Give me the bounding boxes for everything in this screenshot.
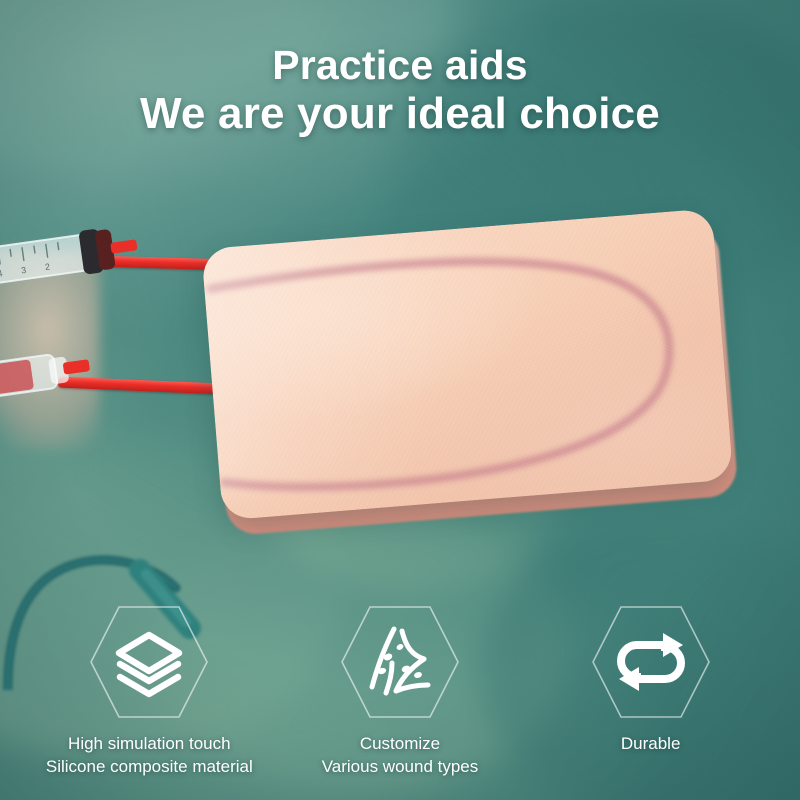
headline-line-2: We are your ideal choice [0,91,800,137]
feature-label-2: Customize Various wound types [322,733,479,778]
feature-item-high-simulation-touch: High simulation touch Silicone composite… [24,601,274,778]
hexagon-frame-1 [89,601,209,723]
pad-top-surface [201,208,733,520]
feature-item-durable: Durable [526,601,776,755]
syringe-upper: 6 5 4 3 2 [0,223,140,296]
silicone-practice-pad [201,208,743,539]
hexagon-frame-2 [340,601,460,723]
headline: Practice aids We are your ideal choice [0,44,800,136]
product-poster: 6 5 4 3 2 [0,0,800,800]
hexagon-frame-3 [591,601,711,723]
feature-label-3: Durable [621,733,681,755]
layers-icon [119,635,179,694]
wound-lines-icon [372,629,428,693]
headline-line-1: Practice aids [0,44,800,87]
feature-item-customize: Customize Various wound types [275,601,525,778]
syringe-lower [0,345,92,413]
feature-row: High simulation touch Silicone composite… [0,601,800,778]
feature-label-1: High simulation touch Silicone composite… [46,733,253,778]
